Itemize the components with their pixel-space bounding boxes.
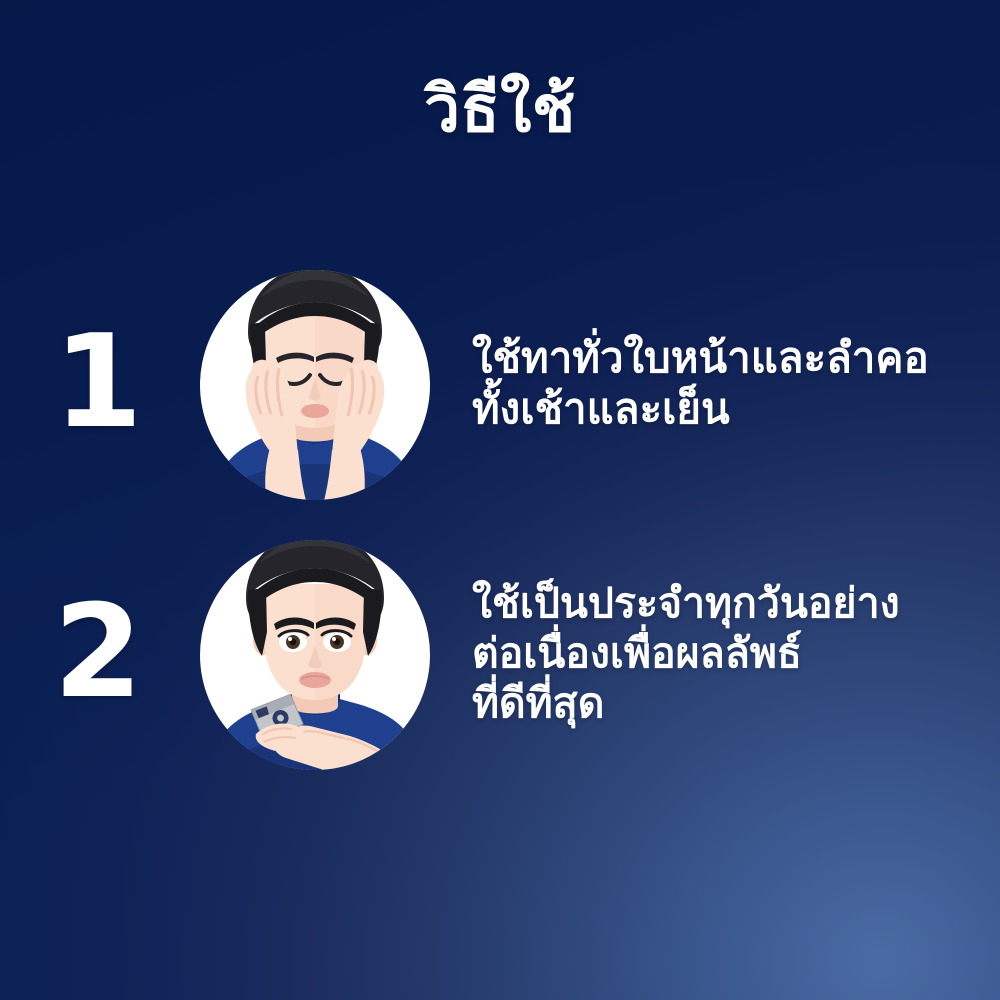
step-text-line: ที่ดีที่สุด bbox=[472, 678, 960, 728]
step-text-line: ต่อเนื่องเพื่อผลลัพธ์ bbox=[472, 628, 960, 678]
step-item-2: 2 bbox=[0, 528, 1000, 778]
step-text-line: ใช้เป็นประจำทุกวันอย่าง bbox=[472, 578, 960, 628]
step-text-2: ใช้เป็นประจำทุกวันอย่าง ต่อเนื่องเพื่อผล… bbox=[440, 578, 1000, 728]
step-text-line: ทั้งเช้าและเย็น bbox=[472, 383, 960, 434]
page-title: วิธีใช้ bbox=[424, 78, 576, 142]
step-illustration-1 bbox=[190, 258, 440, 508]
title-container: วิธีใช้ bbox=[0, 78, 1000, 142]
step-illustration-2 bbox=[190, 528, 440, 778]
step-item-1: 1 bbox=[0, 258, 1000, 508]
poster-canvas: วิธีใช้ 1 bbox=[0, 0, 1000, 1000]
step-number-2: 2 bbox=[0, 589, 190, 717]
man-holding-product-sachet-icon bbox=[190, 528, 440, 778]
step-number-1: 1 bbox=[0, 319, 190, 447]
step-text-1: ใช้ทาทั่วใบหน้าและลำคอ ทั้งเช้าและเย็น bbox=[440, 332, 1000, 434]
man-applying-cream-to-face-icon bbox=[190, 258, 440, 508]
step-text-line: ใช้ทาทั่วใบหน้าและลำคอ bbox=[472, 332, 960, 383]
